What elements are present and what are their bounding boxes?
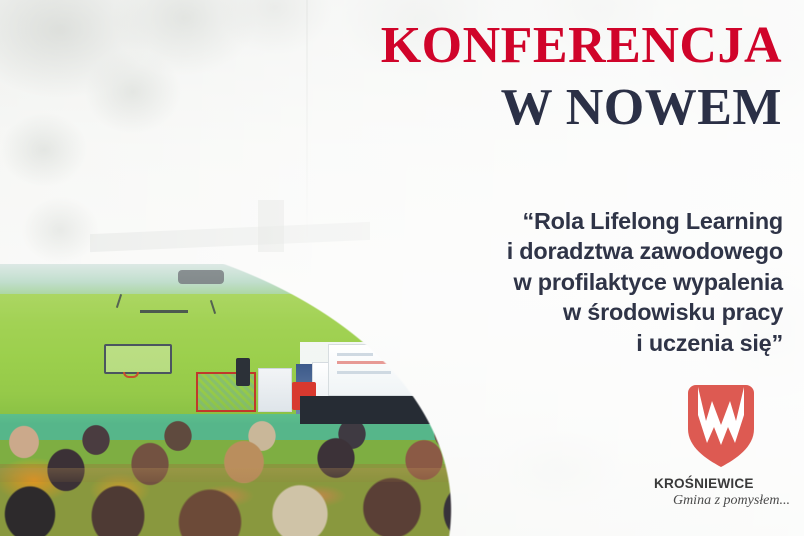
tables-row [0,468,540,482]
logo-municipality-name: KROŚNIEWICE [646,476,796,491]
poster-headline: KONFERENCJA W NOWEM [381,20,782,134]
ceiling-light-secondary-icon [300,276,330,285]
background-pole [306,0,308,250]
headline-line-2: W NOWEM [381,82,782,134]
quote-line-3: w profilaktyce wypalenia [403,267,783,297]
quote-line-2: i doradztwa zawodowego [403,236,783,266]
krosniewice-logo: KROŚNIEWICE Gmina z pomysłem... [646,385,796,509]
pa-speaker-icon [236,358,250,386]
background-chimney [258,200,284,252]
krosniewice-shield-crest-icon [688,385,754,467]
quote-line-1: “Rola Lifelong Learning [403,206,783,236]
wall-rail [140,310,188,313]
wall-poster-a [258,368,292,412]
background-roof [90,222,370,252]
stage-base [300,396,540,424]
quote-line-4: w środowisku pracy [403,297,783,327]
poster-quote: “Rola Lifelong Learning i doradztwa zawo… [403,206,783,358]
conference-poster: KONFERENCJA W NOWEM “Rola Lifelong Learn… [0,0,804,536]
basketball-backboard-icon [104,344,172,374]
quote-line-5: i uczenia się” [403,328,783,358]
ceiling-light-icon [178,270,224,284]
logo-tagline: Gmina z pomysłem... [646,493,796,509]
headline-line-1: KONFERENCJA [381,20,782,72]
